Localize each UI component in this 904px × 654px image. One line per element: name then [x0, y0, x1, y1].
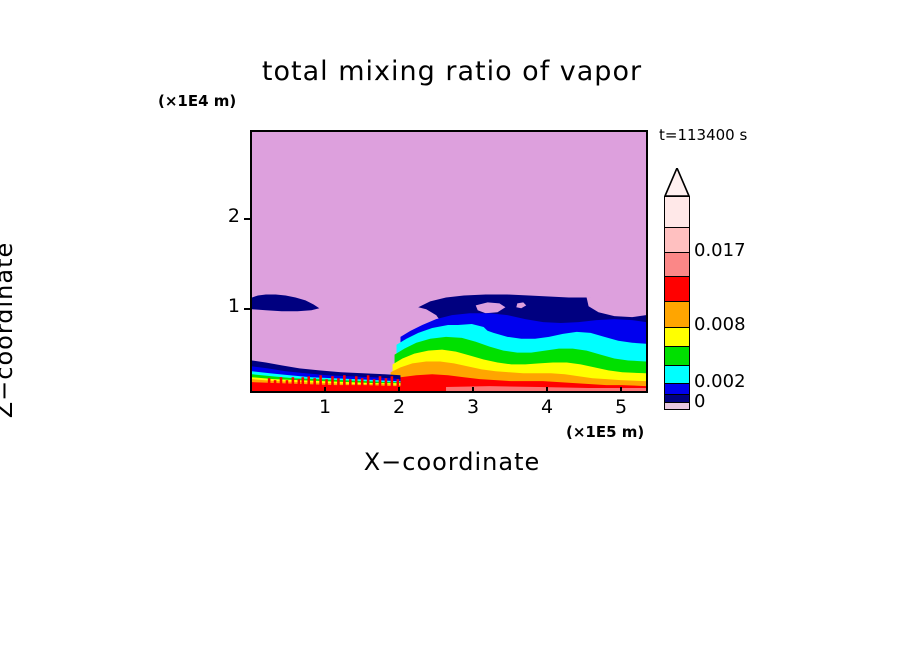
- figure-canvas: total mixing ratio of vapor (×1E4 m) t=1…: [0, 0, 904, 654]
- xtick-mark-3: [472, 387, 474, 393]
- xtick-label-5: 5: [601, 396, 641, 418]
- colorbar-label-0002: 0.002: [694, 371, 746, 392]
- xtick-mark-2: [398, 387, 400, 393]
- colorbar-label-0: 0: [694, 391, 705, 412]
- colorbar-band-lightpink: [664, 196, 690, 228]
- colorbar-band-orange: [664, 301, 690, 328]
- colorbar-band-pink: [664, 227, 690, 253]
- colorbar-label-0017: 0.017: [694, 240, 746, 261]
- ytick-label-1: 1: [200, 295, 240, 317]
- colorbar-band-yellow: [664, 327, 690, 347]
- colorbar-band-cyan: [664, 365, 690, 384]
- time-annotation: t=113400 s: [659, 126, 747, 144]
- colorbar-band-salmon: [664, 252, 690, 277]
- xtick-mark-4: [546, 387, 548, 393]
- xtick-mark-5: [620, 387, 622, 393]
- contour-plot-area: [250, 130, 648, 393]
- y-axis-multiplier-label: (×1E4 m): [158, 92, 236, 110]
- xtick-label-1: 1: [305, 396, 345, 418]
- y-axis-title: Z−coordinate: [0, 180, 18, 480]
- ytick-mark-2: [244, 218, 250, 220]
- colorbar-band-plum: [664, 402, 690, 410]
- x-axis-title: X−coordinate: [0, 448, 904, 476]
- colorbar: [664, 196, 690, 392]
- contour-field: [252, 132, 646, 391]
- xtick-label-2: 2: [379, 396, 419, 418]
- colorbar-label-0008: 0.008: [694, 314, 746, 335]
- xtick-label-4: 4: [527, 396, 567, 418]
- x-axis-multiplier-label: (×1E5 m): [566, 423, 644, 441]
- chart-title: total mixing ratio of vapor: [0, 56, 904, 87]
- ytick-label-2: 2: [200, 205, 240, 227]
- colorbar-overflow-arrow: [664, 168, 690, 197]
- colorbar-band-green: [664, 346, 690, 366]
- ytick-mark-1: [244, 308, 250, 310]
- xtick-mark-1: [324, 387, 326, 393]
- colorbar-band-red: [664, 276, 690, 302]
- xtick-label-3: 3: [453, 396, 493, 418]
